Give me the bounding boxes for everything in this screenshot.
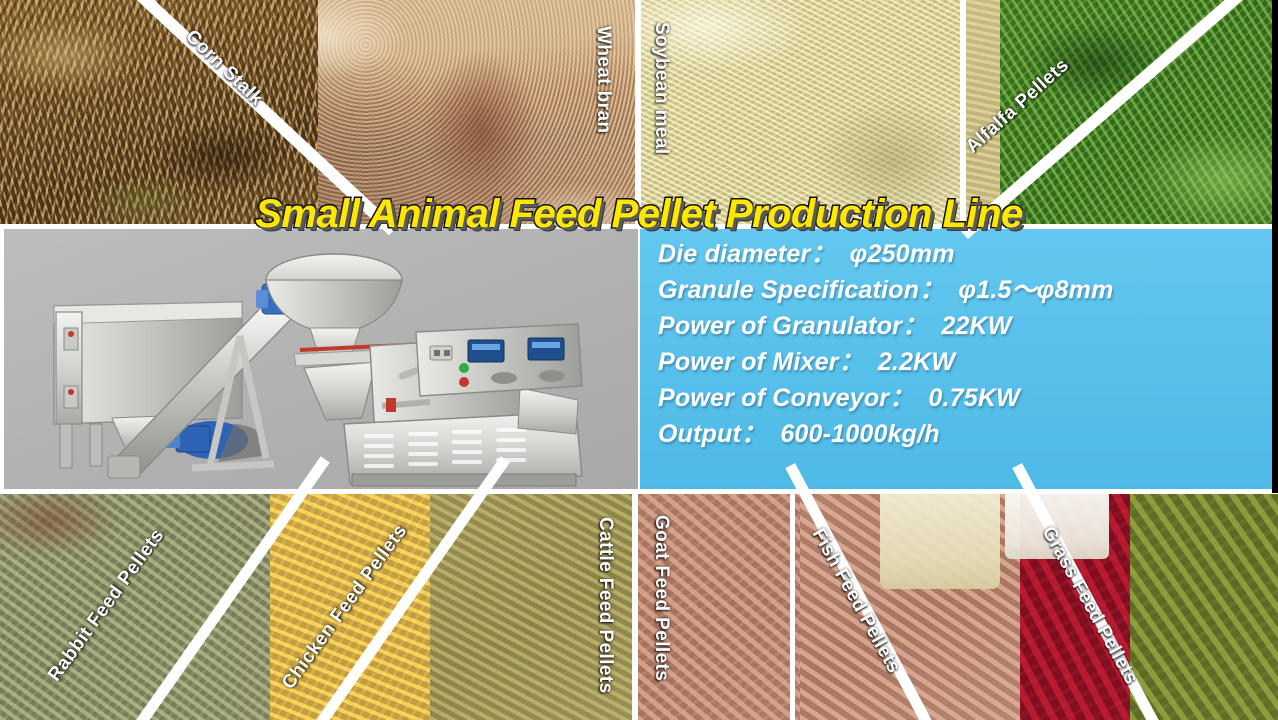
specifications-panel: Die diameter：φ250mm Granule Specificatio… [640, 228, 1278, 492]
left-edge-strip [0, 228, 4, 492]
spec-row-output: Output：600-1000kg/h [658, 416, 1278, 452]
alfalfa-grass-photo [1000, 0, 1278, 224]
machine-and-specs-row: Die diameter：φ250mm Granule Specificatio… [0, 228, 1278, 492]
goat-fish-vertical-divider [790, 493, 795, 720]
spec-row-die-diameter: Die diameter：φ250mm [658, 236, 1278, 272]
spec-value-power-conveyor: 0.75KW [914, 384, 1020, 412]
soybean-meal-photo [641, 0, 966, 224]
spec-value-power-mixer: 2.2KW [864, 348, 955, 376]
row1-row2-divider [0, 224, 1278, 229]
caption-cattle-feed-pellets: Cattle Feed Pellets [594, 517, 616, 694]
spec-value-output: 600-1000kg/h [766, 420, 939, 448]
spec-value-power-granulator: 22KW [927, 312, 1011, 340]
feed-bottle-left [880, 493, 1000, 589]
spec-label-die-diameter: Die diameter： [658, 240, 836, 268]
caption-wheat-bran: Wheat bran [592, 26, 614, 133]
spec-row-power-mixer: Power of Mixer：2.2KW [658, 344, 1278, 380]
caption-soybean-meal: Soybean meal [650, 22, 672, 155]
spec-row-power-conveyor: Power of Conveyor：0.75KW [658, 380, 1278, 416]
spec-label-power-conveyor: Power of Conveyor： [658, 384, 914, 412]
soy-alfalfa-divider [960, 0, 966, 224]
feed-pellet-production-line-photo [4, 228, 638, 492]
products-row: Rabbit Feed Pellets Chicken Feed Pellets… [0, 493, 1278, 720]
spec-label-output: Output： [658, 420, 766, 448]
product-poster: Corn Stalk Wheat bran Soybean meal Alfal… [0, 0, 1278, 720]
row2-row3-divider [0, 489, 1278, 494]
spec-label-power-granulator: Power of Granulator： [658, 312, 927, 340]
bran-soy-divider [635, 0, 641, 224]
spec-row-granule-specification: Granule Specification：φ1.5～φ8mm [658, 272, 1278, 308]
rabbit-feed-pellets-photo [0, 493, 270, 720]
spec-row-power-granulator: Power of Granulator：22KW [658, 308, 1278, 344]
cattle-goat-divider [632, 493, 638, 720]
spec-label-power-mixer: Power of Mixer： [658, 348, 864, 376]
raw-materials-row: Corn Stalk Wheat bran Soybean meal Alfal… [0, 0, 1278, 224]
caption-goat-feed-pellets: Goat Feed Pellets [650, 515, 672, 681]
control-panel [416, 324, 582, 396]
machine-illustration [4, 228, 638, 492]
spec-value-die-diameter: φ250mm [836, 240, 955, 268]
grass-feed-pellets-photo [1130, 493, 1278, 720]
spec-label-granule-specification: Granule Specification： [658, 276, 944, 304]
spec-value-granule-specification: φ1.5～φ8mm [944, 276, 1113, 304]
right-edge-black-strip [1272, 0, 1278, 493]
